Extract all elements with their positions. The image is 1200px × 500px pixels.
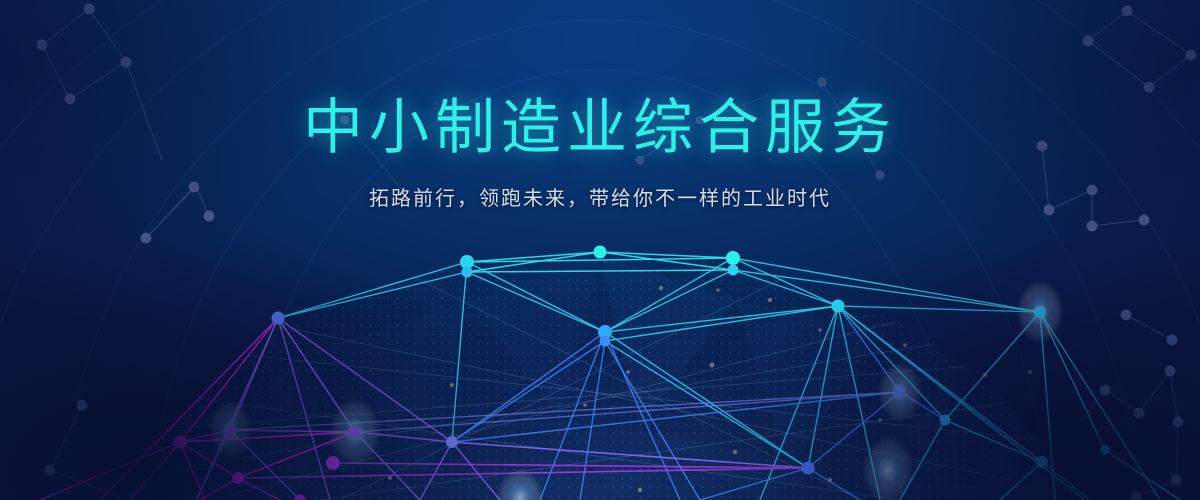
page-title: 中小制造业综合服务 (0, 96, 1200, 160)
corner-vignette (0, 0, 1200, 500)
page-subtitle: 拓路前行，领跑未来，带给你不一样的工业时代 (0, 182, 1200, 211)
hero-text-block: 中小制造业综合服务 拓路前行，领跑未来，带给你不一样的工业时代 (0, 96, 1200, 211)
hero-banner: 中小制造业综合服务 拓路前行，领跑未来，带给你不一样的工业时代 (0, 0, 1200, 500)
